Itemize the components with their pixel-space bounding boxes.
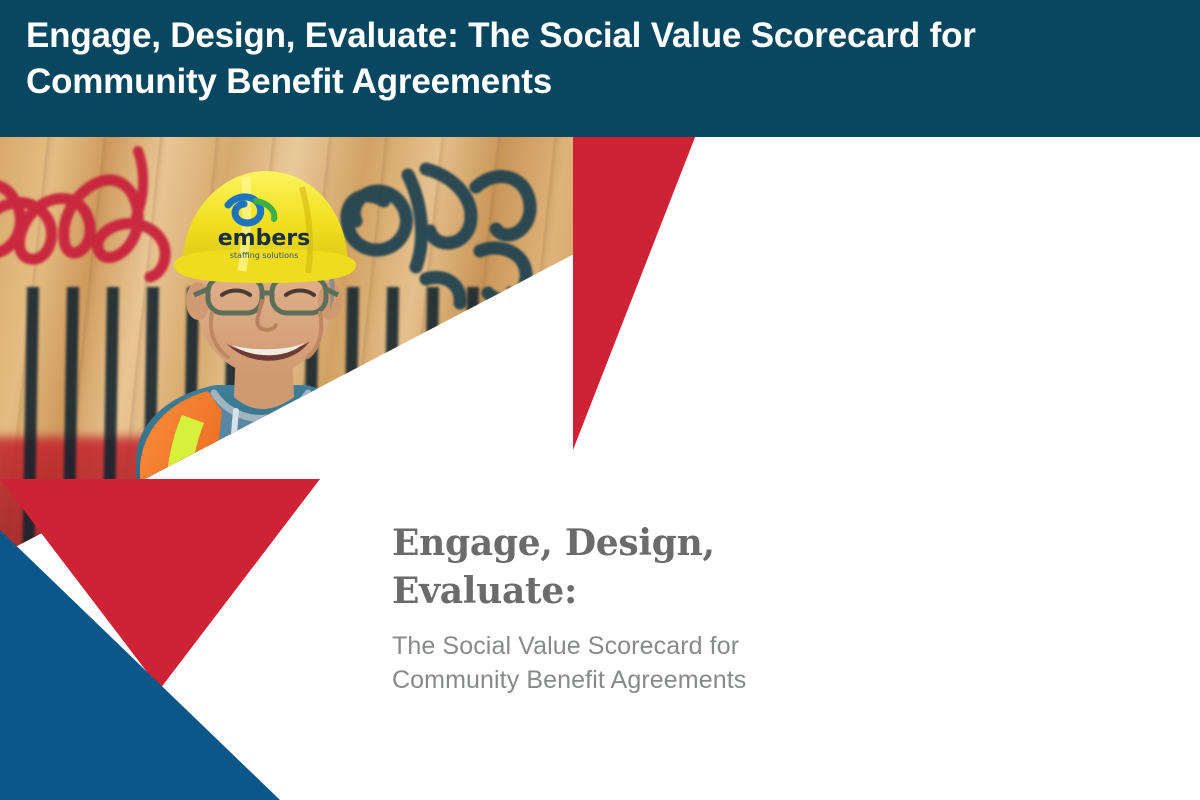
safety-vest-right [302, 391, 384, 555]
page-title: Engage, Design, Evaluate: The Social Val… [26, 13, 1172, 105]
page-header-band: Engage, Design, Evaluate: The Social Val… [0, 0, 1200, 137]
vest-stripe-right [318, 415, 357, 555]
cover-text-block: Engage, Design, Evaluate: The Social Val… [392, 520, 862, 697]
hard-hat-logo-tagline: staffing solutions [230, 251, 298, 260]
hard-hat-logo-text: embers [218, 226, 310, 251]
cover-heading: Engage, Design, Evaluate: [392, 520, 862, 615]
hard-hat-icon: embers staffing solutions [174, 171, 356, 283]
cover-page: Engage, Design, Evaluate: The Social Val… [0, 0, 1200, 800]
cover-subheading: The Social Value Scorecard for Community… [392, 629, 862, 697]
red-accent-triangle-top [573, 137, 903, 450]
cover-artwork: embers staffing solutions Engage, Design… [0, 137, 1200, 800]
